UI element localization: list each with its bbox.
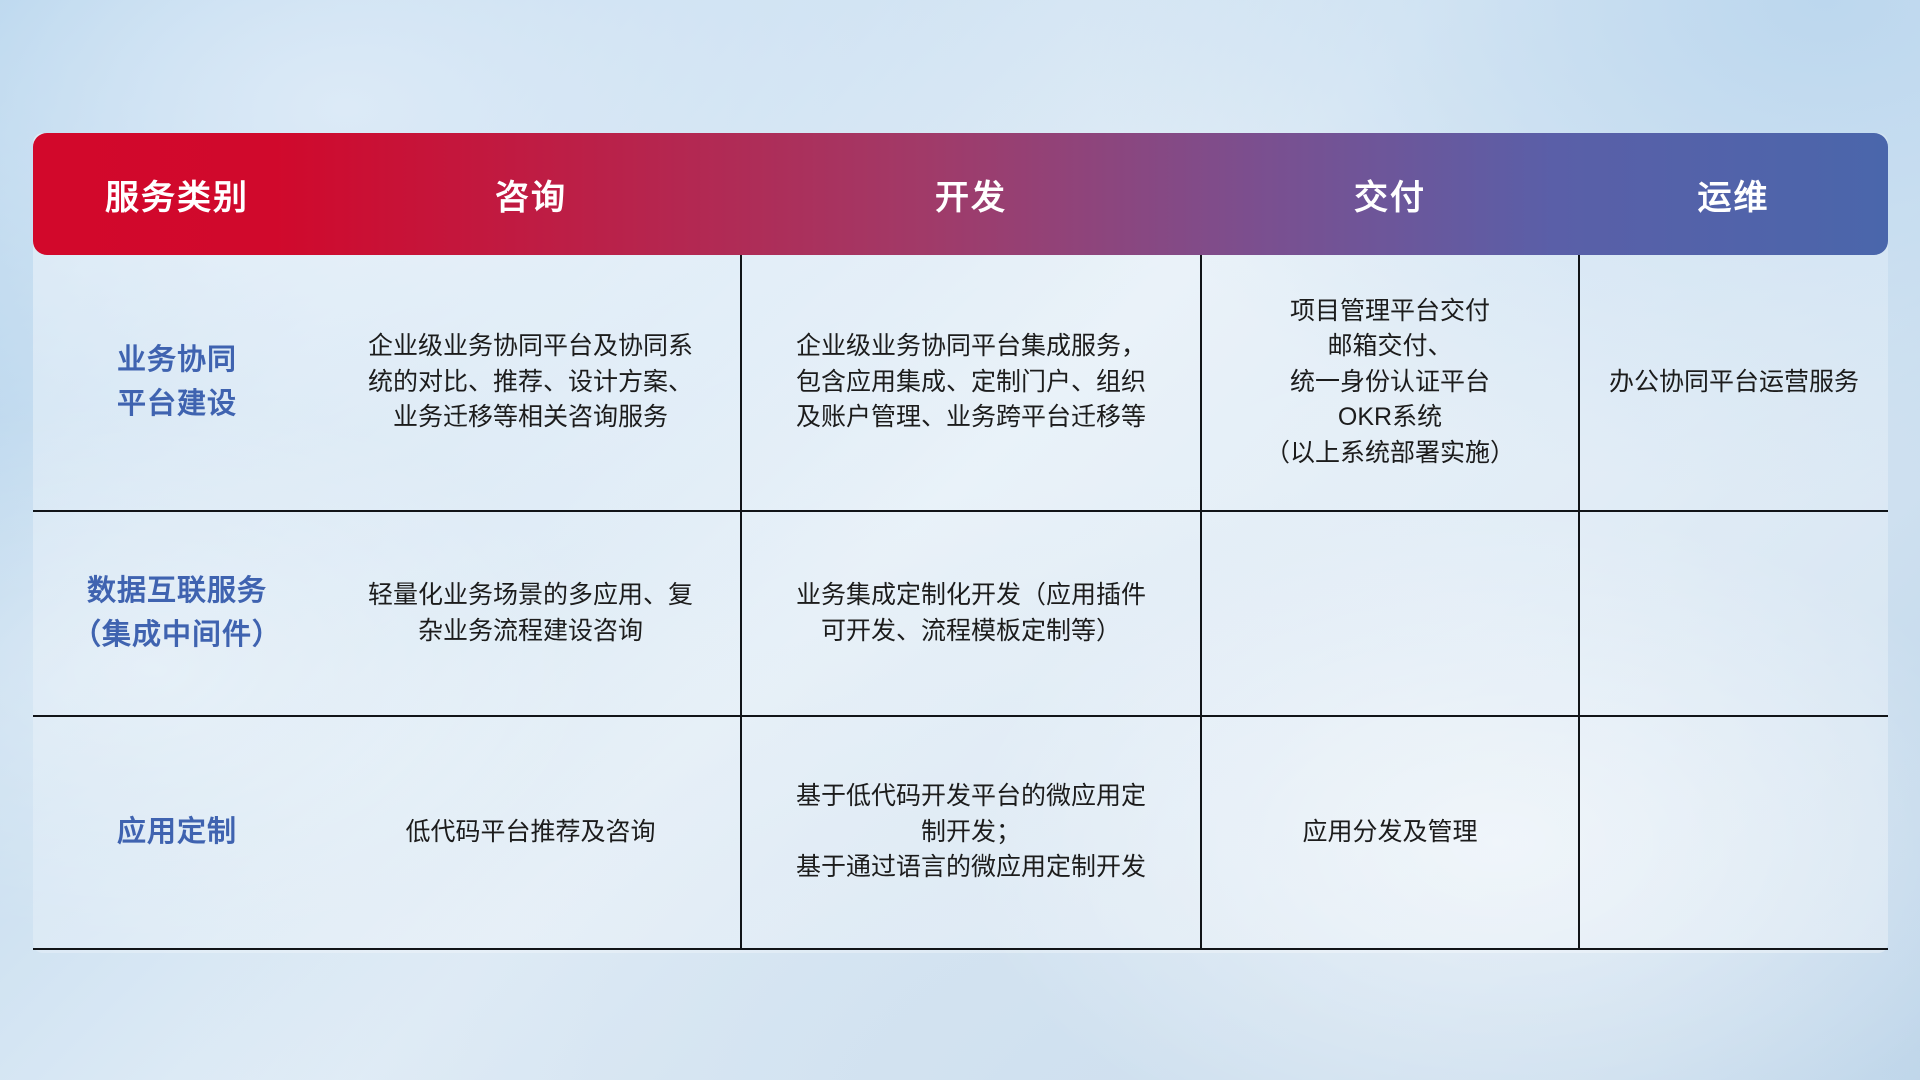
cell-operations-3: [1579, 716, 1888, 949]
cell-development-3: 基于低代码开发平台的微应用定 制开发； 基于通过语言的微应用定制开发: [741, 716, 1201, 949]
cell-development-2: 业务集成定制化开发（应用插件 可开发、流程模板定制等）: [741, 511, 1201, 716]
cell-delivery-2: [1201, 511, 1579, 716]
header-cell-delivery: 交付: [1201, 133, 1579, 255]
header-row: 服务类别 咨询 开发 交付 运维: [33, 133, 1888, 255]
service-matrix-table: 服务类别 咨询 开发 交付 运维 业务协同 平台建设 企业级业务协同平台及协同系…: [33, 133, 1888, 950]
cell-category-3: 应用定制: [33, 716, 321, 949]
cell-consulting-3: 低代码平台推荐及咨询: [321, 716, 741, 949]
table-header: 服务类别 咨询 开发 交付 运维: [33, 133, 1888, 255]
cell-category-1: 业务协同 平台建设: [33, 255, 321, 511]
cell-consulting-2: 轻量化业务场景的多应用、复 杂业务流程建设咨询: [321, 511, 741, 716]
cell-development-1: 企业级业务协同平台集成服务， 包含应用集成、定制门户、组织 及账户管理、业务跨平…: [741, 255, 1201, 511]
cell-operations-2: [1579, 511, 1888, 716]
cell-delivery-1: 项目管理平台交付 邮箱交付、 统一身份认证平台 OKR系统 （以上系统部署实施）: [1201, 255, 1579, 511]
table-body: 业务协同 平台建设 企业级业务协同平台及协同系 统的对比、推荐、设计方案、 业务…: [33, 255, 1888, 949]
table-row: 数据互联服务 （集成中间件） 轻量化业务场景的多应用、复 杂业务流程建设咨询 业…: [33, 511, 1888, 716]
header-cell-consulting: 咨询: [321, 133, 741, 255]
cell-operations-1: 办公协同平台运营服务: [1579, 255, 1888, 511]
cell-consulting-1: 企业级业务协同平台及协同系 统的对比、推荐、设计方案、 业务迁移等相关咨询服务: [321, 255, 741, 511]
table-row: 应用定制 低代码平台推荐及咨询 基于低代码开发平台的微应用定 制开发； 基于通过…: [33, 716, 1888, 949]
header-cell-development: 开发: [741, 133, 1201, 255]
header-cell-operations: 运维: [1579, 133, 1888, 255]
cell-category-2: 数据互联服务 （集成中间件）: [33, 511, 321, 716]
table-row: 业务协同 平台建设 企业级业务协同平台及协同系 统的对比、推荐、设计方案、 业务…: [33, 255, 1888, 511]
header-cell-category: 服务类别: [33, 133, 321, 255]
cell-delivery-3: 应用分发及管理: [1201, 716, 1579, 949]
